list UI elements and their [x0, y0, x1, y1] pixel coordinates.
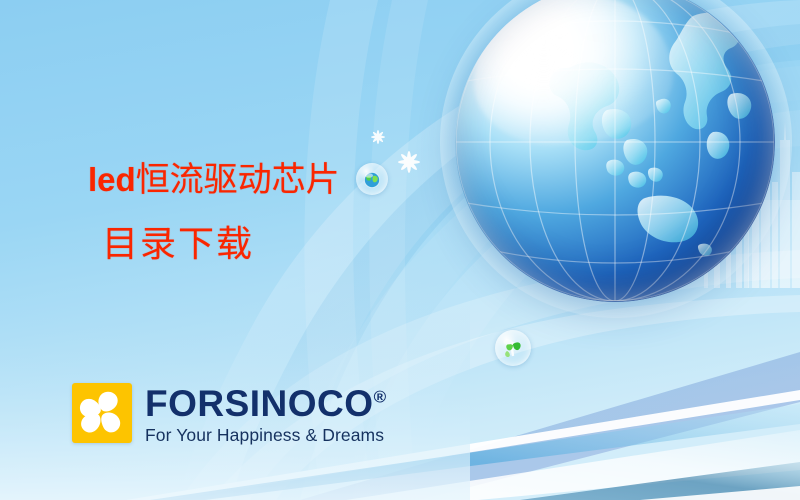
headline-cjk: 恒流驱动芯片	[136, 162, 340, 199]
logo-wordmark-text: FORSINOCO	[145, 383, 374, 424]
globe-sphere	[455, 0, 775, 302]
globe-specular-highlight	[474, 0, 672, 145]
headline-line-1: led恒流驱动芯片	[88, 163, 418, 198]
starburst-small-icon	[368, 127, 388, 147]
globe-halo	[440, 0, 792, 318]
green-sprout-icon	[495, 330, 531, 366]
registered-trademark-icon: ®	[374, 388, 387, 407]
globe-rim-shading	[455, 0, 775, 302]
bubble-sprout	[495, 330, 531, 366]
headline-latin: led	[88, 161, 136, 198]
headline-line-2: 目录下载	[102, 226, 418, 262]
brand-logo: FORSINOCO® For Your Happiness & Dreams	[72, 383, 386, 446]
logo-tagline: For Your Happiness & Dreams	[145, 425, 386, 446]
globe-illustration	[455, 0, 775, 302]
globe-graticule	[455, 0, 775, 302]
four-petal-pinwheel-icon	[72, 383, 132, 443]
logo-text-block: FORSINOCO® For Your Happiness & Dreams	[145, 383, 386, 446]
headline-text: led恒流驱动芯片 目录下载	[88, 163, 418, 262]
promo-banner: led恒流驱动芯片 目录下载 FORSINOCO® For Your Happi…	[0, 0, 800, 500]
logo-wordmark: FORSINOCO®	[145, 385, 386, 422]
